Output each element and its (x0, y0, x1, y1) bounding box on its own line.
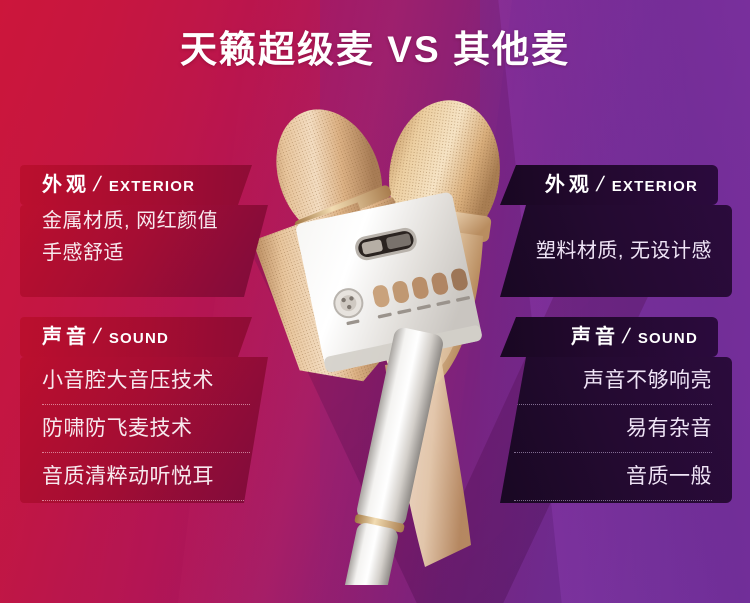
right-exterior-separator: / (592, 165, 609, 205)
right-sound-item: 音质一般 (500, 453, 712, 501)
comparison-infographic: 天籁超级麦 VS 其他麦 (0, 0, 750, 603)
left-exterior-label-cn: 外观 (42, 174, 90, 196)
page-title: 天籁超级麦 VS 其他麦 (0, 19, 750, 73)
right-sound-label-cn: 声音 (571, 326, 619, 348)
left-sound-item-label: 防啸防飞麦技术 (42, 417, 193, 440)
right-sound-separator: / (618, 317, 635, 357)
left-exterior-line-2: 手感舒适 (42, 237, 268, 269)
left-sound-label-en: SOUND (109, 330, 169, 347)
left-exterior-separator: / (89, 165, 106, 205)
left-sound-item-label: 音质清粹动听悦耳 (42, 465, 214, 488)
product-image (225, 85, 535, 585)
right-exterior-line-1: 塑料材质, 无设计感 (500, 205, 712, 297)
right-sound-item: 声音不够响亮 (500, 357, 712, 405)
right-sound-item: 易有杂音 (500, 405, 712, 453)
left-exterior-body: 金属材质, 网红颜值 手感舒适 (20, 205, 268, 297)
left-sound-header: 声音/SOUND (20, 317, 252, 357)
right-exterior-label-cn: 外观 (545, 174, 593, 196)
right-sound-body: 声音不够响亮 易有杂音 音质一般 (500, 357, 732, 503)
left-sound-separator: / (89, 317, 106, 357)
right-exterior-header: 外观/EXTERIOR (500, 165, 718, 205)
right-exterior-body: 塑料材质, 无设计感 (500, 205, 732, 297)
left-sound-item: 音质清粹动听悦耳 (42, 453, 268, 501)
right-sound-item-label: 声音不够响亮 (583, 369, 712, 392)
left-exterior-line-1: 金属材质, 网红颜值 (42, 205, 268, 237)
right-sound-item-label: 易有杂音 (626, 417, 712, 440)
left-sound-item: 防啸防飞麦技术 (42, 405, 268, 453)
left-sound-item-label: 小音腔大音压技术 (42, 369, 214, 392)
left-comparison-column: 外观/EXTERIOR 金属材质, 网红颜值 手感舒适 声音/SOUND 小音腔… (20, 165, 268, 503)
right-sound-header: 声音/SOUND (500, 317, 718, 357)
right-comparison-column: 外观/EXTERIOR 塑料材质, 无设计感 声音/SOUND 声音不够响亮 易… (500, 165, 732, 503)
left-exterior-label-en: EXTERIOR (109, 178, 195, 195)
right-sound-item-label: 音质一般 (626, 465, 712, 488)
left-sound-body: 小音腔大音压技术 防啸防飞麦技术 音质清粹动听悦耳 (20, 357, 268, 503)
right-column-gap (500, 297, 732, 317)
left-exterior-header: 外观/EXTERIOR (20, 165, 252, 205)
left-column-gap (20, 297, 268, 317)
right-sound-label-en: SOUND (638, 330, 698, 347)
left-sound-item: 小音腔大音压技术 (42, 357, 268, 405)
right-exterior-label-en: EXTERIOR (612, 178, 698, 195)
left-sound-label-cn: 声音 (42, 326, 90, 348)
